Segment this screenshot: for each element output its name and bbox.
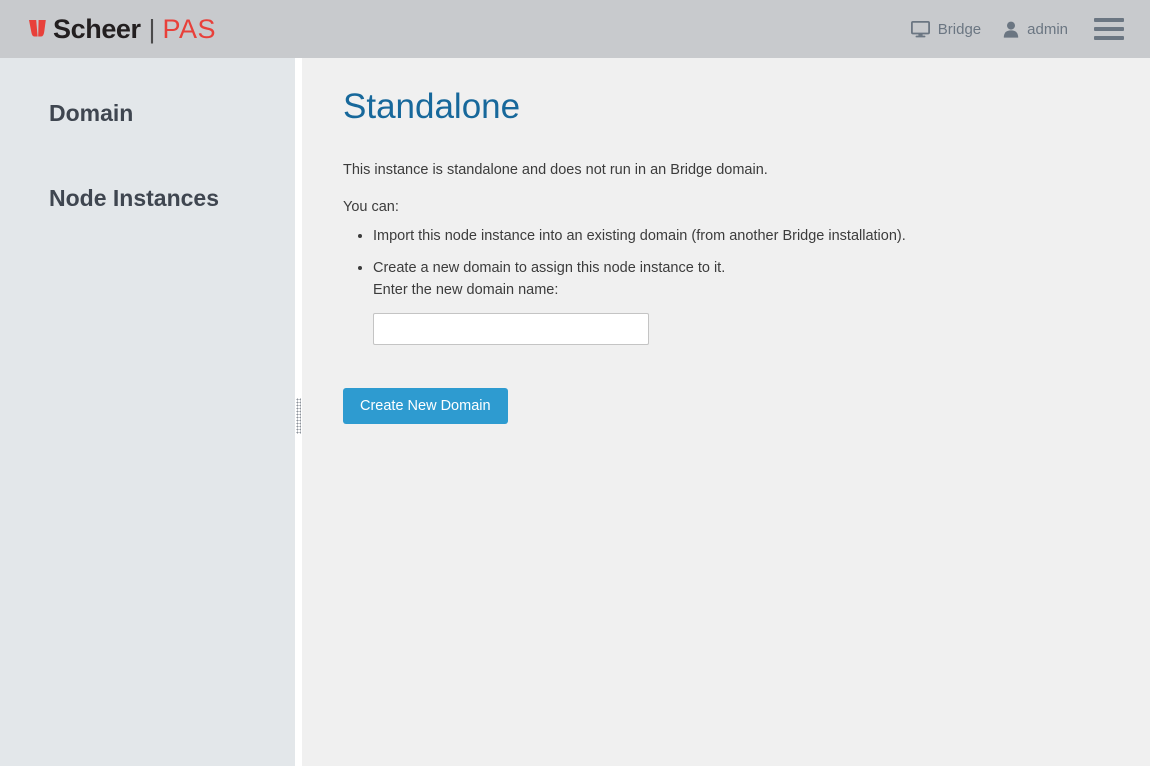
create-new-domain-button[interactable]: Create New Domain	[343, 388, 508, 424]
option-create-label: Create a new domain to assign this node …	[373, 260, 725, 276]
monitor-icon	[911, 21, 930, 38]
list-item: Create a new domain to assign this node …	[373, 258, 1150, 345]
sidebar-item-domain[interactable]: Domain	[0, 100, 295, 127]
page-title: Standalone	[343, 86, 1150, 128]
hamburger-bar-2	[1094, 27, 1124, 31]
header-item-admin-label: admin	[1027, 21, 1068, 38]
brand-separator: |	[149, 16, 156, 42]
hamburger-bar-1	[1094, 18, 1124, 22]
header-item-bridge-label: Bridge	[938, 21, 981, 38]
domain-name-input[interactable]	[373, 313, 649, 345]
sidebar-splitter[interactable]	[295, 58, 302, 766]
brand-logo[interactable]: Scheer | PAS	[28, 0, 216, 58]
hamburger-bar-3	[1094, 36, 1124, 40]
sidebar-item-node-instances-label: Node Instances	[49, 185, 219, 211]
brand-product: PAS	[162, 16, 216, 43]
splitter-drag-handle[interactable]	[296, 398, 301, 434]
sidebar-item-domain-label: Domain	[49, 100, 133, 126]
user-icon	[1003, 21, 1019, 38]
option-import-label: Import this node instance into an existi…	[373, 228, 906, 244]
intro-text: This instance is standalone and does not…	[343, 162, 1150, 178]
hamburger-menu-icon[interactable]	[1094, 16, 1124, 43]
main-content: Standalone This instance is standalone a…	[302, 58, 1150, 766]
header-actions: Bridge admin	[889, 0, 1130, 58]
you-can-label: You can:	[343, 199, 1150, 215]
brand-name: Scheer	[53, 16, 141, 43]
scheer-logo-mark-icon	[28, 16, 50, 42]
list-item: Import this node instance into an existi…	[373, 226, 1150, 247]
app-header: Scheer | PAS Bridge admin	[0, 0, 1150, 58]
options-list: Import this node instance into an existi…	[343, 226, 1150, 345]
sidebar: Domain Node Instances	[0, 58, 295, 766]
domain-name-field-label: Enter the new domain name:	[373, 280, 1150, 301]
sidebar-item-node-instances[interactable]: Node Instances	[0, 185, 295, 212]
header-item-admin[interactable]: admin	[1003, 21, 1068, 38]
header-item-bridge[interactable]: Bridge	[911, 21, 981, 38]
